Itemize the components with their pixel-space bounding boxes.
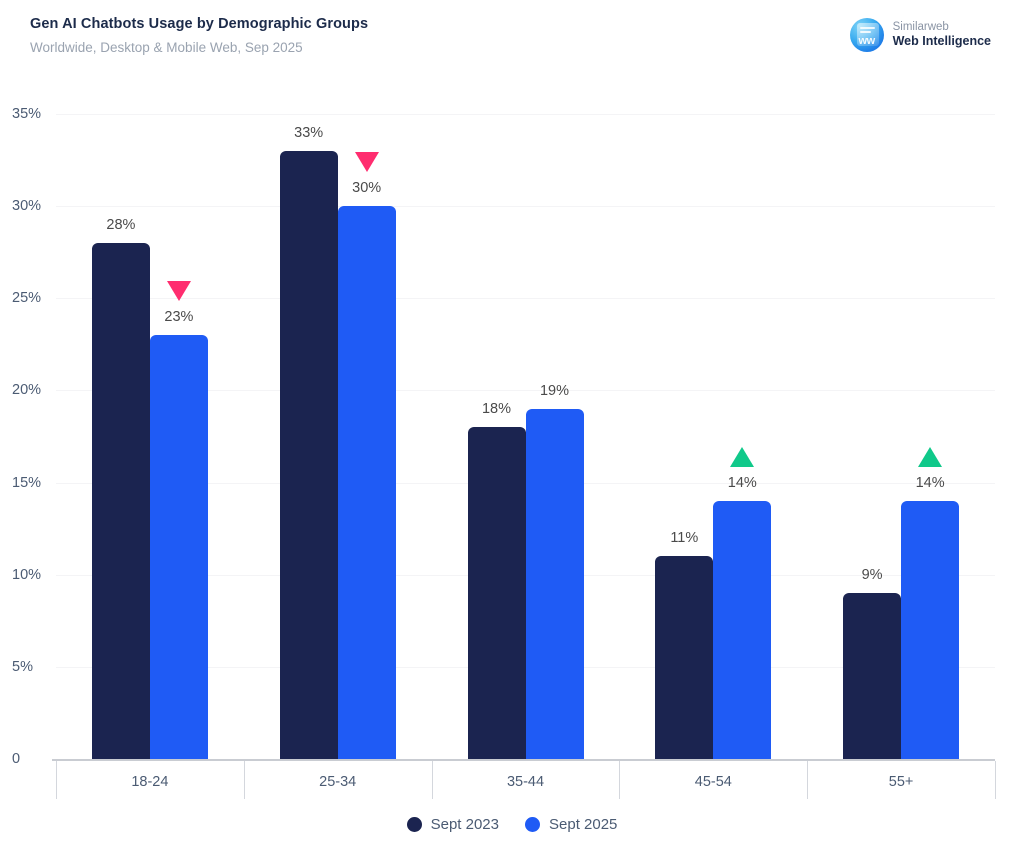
gridline xyxy=(56,206,995,207)
bar-value-label: 11% xyxy=(670,530,698,546)
x-axis-separator-tick xyxy=(807,761,808,799)
y-axis-tick-label: 20% xyxy=(12,382,56,398)
chart-legend: Sept 2023Sept 2025 xyxy=(0,816,1024,833)
legend-item[interactable]: Sept 2025 xyxy=(525,816,617,833)
bar-value-label: 18% xyxy=(482,401,511,417)
bar-18-24-sept-2025[interactable] xyxy=(150,335,208,759)
x-axis-label: 25-34 xyxy=(319,774,356,790)
legend-item[interactable]: Sept 2023 xyxy=(407,816,499,833)
bar-value-label: 14% xyxy=(728,475,757,491)
y-axis-tick-label: 25% xyxy=(12,290,56,306)
bar-chart-plot: 05%10%15%20%25%30%35%18-2428%23%25-3433%… xyxy=(0,0,1024,861)
bar-45-54-sept-2025[interactable] xyxy=(713,501,771,759)
y-axis-tick-label: 5% xyxy=(12,659,56,675)
y-axis-tick-label: 30% xyxy=(12,198,56,214)
legend-label: Sept 2023 xyxy=(431,816,499,833)
triangle-down-icon xyxy=(167,281,191,301)
bar-value-label: 9% xyxy=(862,567,883,583)
x-axis-separator-tick xyxy=(995,761,996,799)
bar-value-label: 33% xyxy=(294,125,323,141)
bar-18-24-sept-2023[interactable] xyxy=(92,243,150,759)
bar-value-label: 28% xyxy=(106,217,135,233)
bar-55plus-sept-2025[interactable] xyxy=(901,501,959,759)
bar-value-label: 30% xyxy=(352,180,381,196)
bar-value-label: 23% xyxy=(164,309,193,325)
y-axis-tick-label: 35% xyxy=(12,106,56,122)
x-axis-label: 35-44 xyxy=(507,774,544,790)
legend-color-dot xyxy=(525,817,540,832)
x-axis-label: 55+ xyxy=(889,774,914,790)
x-axis-separator-tick xyxy=(56,761,57,799)
bar-55plus-sept-2023[interactable] xyxy=(843,593,901,759)
x-axis-separator-tick xyxy=(432,761,433,799)
y-axis-tick-label: 15% xyxy=(12,475,56,491)
triangle-up-icon xyxy=(918,447,942,467)
x-axis-label: 18-24 xyxy=(131,774,168,790)
triangle-down-icon xyxy=(355,152,379,172)
y-axis-tick-label: 0 xyxy=(12,751,56,767)
bar-25-34-sept-2025[interactable] xyxy=(338,206,396,759)
bar-35-44-sept-2023[interactable] xyxy=(468,427,526,759)
triangle-up-icon xyxy=(730,447,754,467)
y-axis-tick-label: 10% xyxy=(12,567,56,583)
bar-45-54-sept-2023[interactable] xyxy=(655,556,713,759)
x-axis-label: 45-54 xyxy=(695,774,732,790)
x-axis-separator-tick xyxy=(619,761,620,799)
legend-color-dot xyxy=(407,817,422,832)
x-axis-separator-tick xyxy=(244,761,245,799)
bar-25-34-sept-2023[interactable] xyxy=(280,151,338,759)
x-axis-line xyxy=(52,759,995,761)
gridline xyxy=(56,114,995,115)
bar-value-label: 14% xyxy=(916,475,945,491)
bar-value-label: 19% xyxy=(540,383,569,399)
legend-label: Sept 2025 xyxy=(549,816,617,833)
gridline xyxy=(56,298,995,299)
bar-35-44-sept-2025[interactable] xyxy=(526,409,584,759)
